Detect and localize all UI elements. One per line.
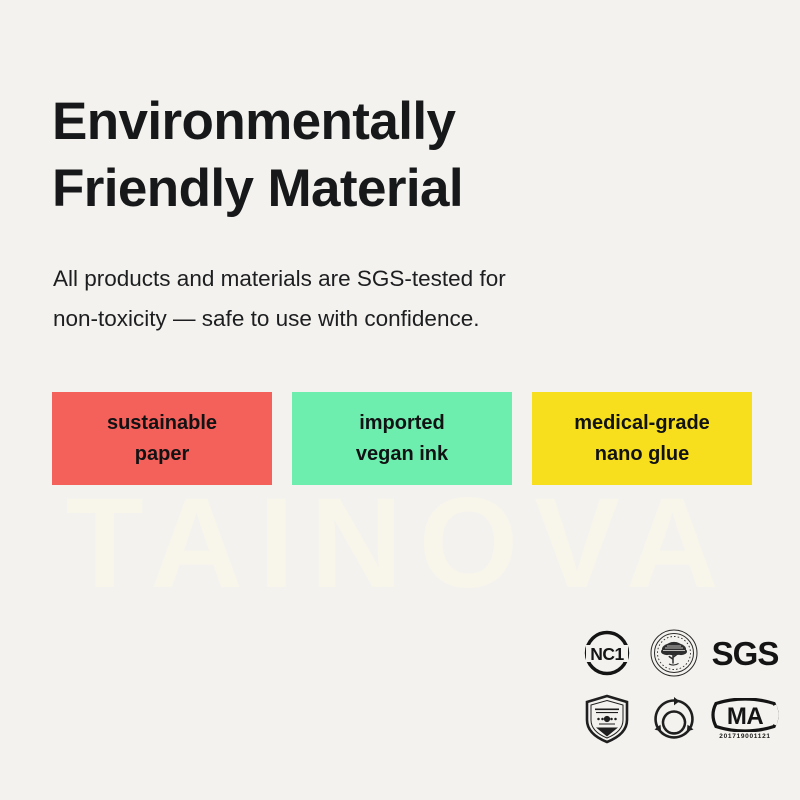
shield-certification-badge <box>574 688 639 750</box>
page-title: Environmentally Friendly Material <box>52 88 712 224</box>
material-chip-imported-vegan-ink: imported vegan ink <box>292 392 512 485</box>
chip-label-line-1: sustainable <box>107 408 217 438</box>
shield-icon <box>583 693 631 745</box>
cma-icon: MA <box>708 698 782 732</box>
nc1-icon: NC1 <box>582 628 632 678</box>
chip-label-line-1: imported <box>359 408 445 438</box>
svg-text:MA: MA <box>727 703 763 730</box>
brand-watermark: TAINOVA <box>0 480 800 608</box>
nc1-certification-badge: NC1 <box>574 622 639 684</box>
cma-certification-badge: MA 201719001121 <box>708 688 782 750</box>
material-chip-list: sustainable paper imported vegan ink med… <box>52 392 752 487</box>
svg-text:NC1: NC1 <box>590 644 624 664</box>
page-title-line-2: Friendly Material <box>52 155 712 223</box>
page-description: All products and materials are SGS-teste… <box>53 259 693 339</box>
material-chip-medical-grade-nano-glue: medical-grade nano glue <box>532 392 752 485</box>
forest-seal-certification-badge <box>641 622 706 684</box>
sgs-certification-badge: SGS <box>708 622 782 684</box>
page-title-line-1: Environmentally <box>52 88 712 156</box>
sgs-wordmark-icon: SGS <box>712 637 779 670</box>
material-chip-sustainable-paper: sustainable paper <box>52 392 272 485</box>
chip-label-line-2: paper <box>135 439 189 469</box>
page-description-line-1: All products and materials are SGS-teste… <box>53 259 693 299</box>
cma-certificate-number: 201719001121 <box>719 734 770 741</box>
certification-badge-grid: NC1 <box>574 622 782 750</box>
environmentally-friendly-material-page: TAINOVA Environmentally Friendly Materia… <box>0 0 800 800</box>
page-description-line-2: non-toxicity — safe to use with confiden… <box>53 299 693 339</box>
recycling-loop-icon <box>648 693 700 745</box>
recycling-certification-badge <box>641 688 706 750</box>
chip-label-line-1: medical-grade <box>574 408 710 438</box>
tree-seal-icon <box>648 627 700 679</box>
chip-label-line-2: nano glue <box>595 439 689 469</box>
chip-label-line-2: vegan ink <box>356 439 448 469</box>
